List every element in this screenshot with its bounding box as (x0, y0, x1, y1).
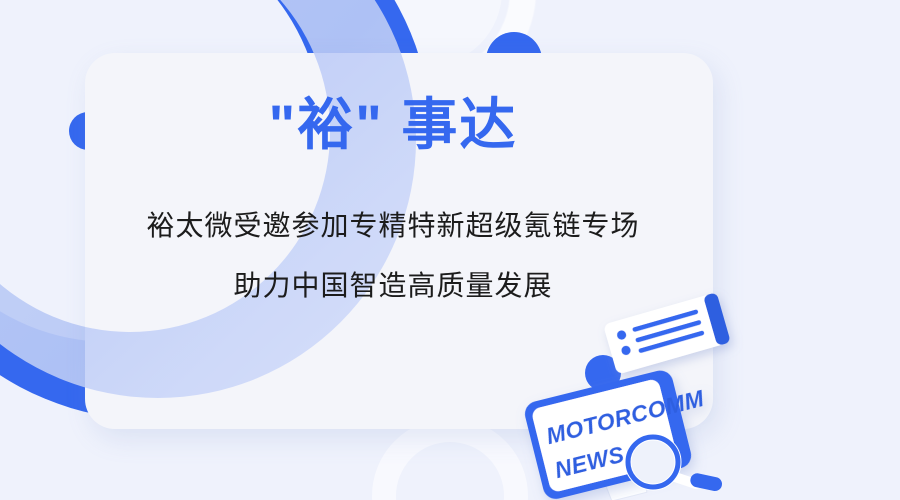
card-pale-arc-icon (85, 53, 418, 429)
news-illustration: MOTORCOMM NEWS (490, 286, 750, 500)
document-list-icon (603, 292, 731, 375)
news-banner: "裕" 事达 裕太微受邀参加专精特新超级氪链专场 助力中国智造高质量发展 (0, 0, 900, 500)
magnifier-icon (628, 437, 723, 492)
